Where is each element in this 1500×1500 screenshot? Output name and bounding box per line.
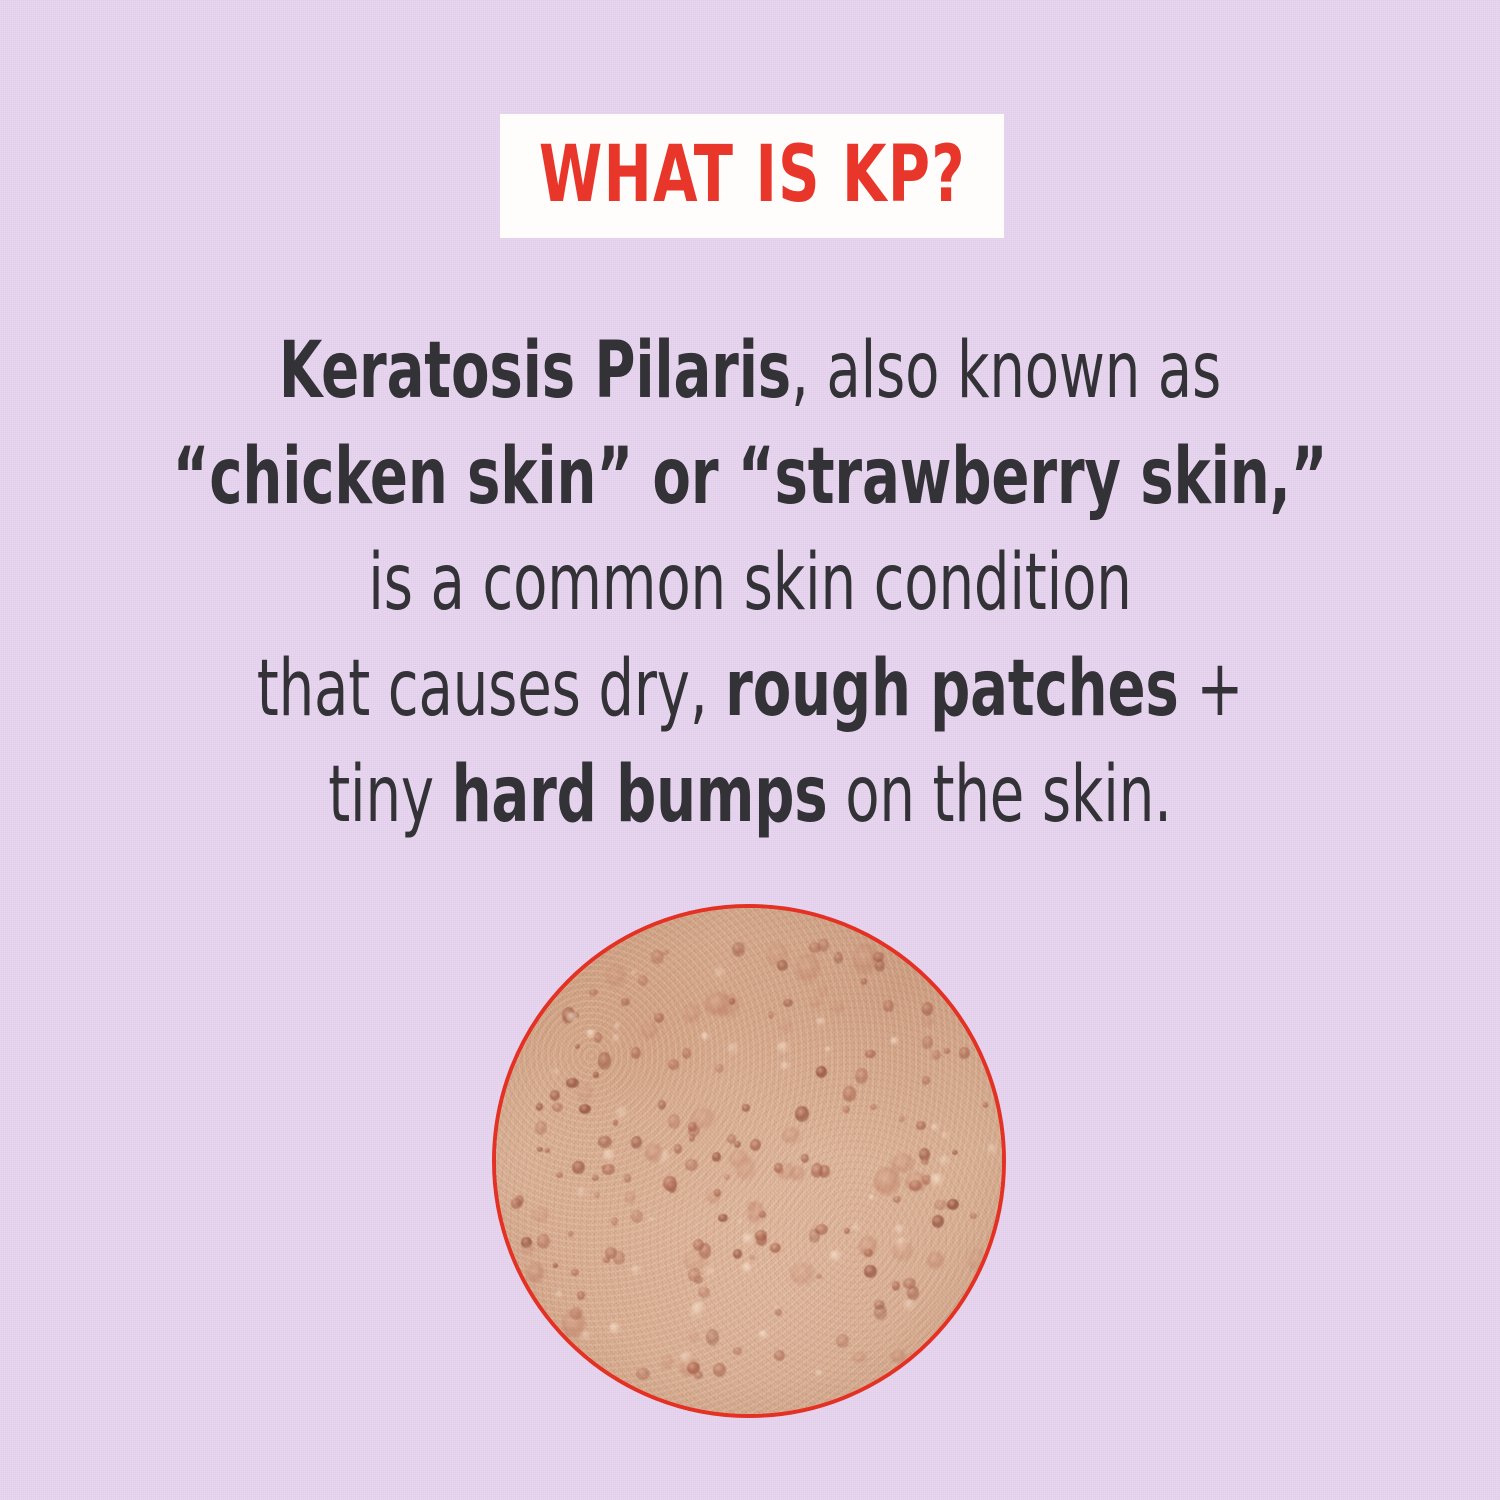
copy-line-2: “chicken skin” or “strawberry skin,” <box>150 424 1350 530</box>
skin-bump <box>795 1106 809 1122</box>
skin-bump <box>555 1290 563 1299</box>
skin-bump <box>916 1121 926 1130</box>
skin-bump <box>816 1066 827 1078</box>
skin-bump <box>927 1252 944 1269</box>
skin-bump <box>733 1347 742 1354</box>
skin-bump <box>598 1052 612 1070</box>
skin-bump <box>521 1243 534 1255</box>
skin-photo <box>492 904 1006 1418</box>
skin-bump <box>891 1350 906 1363</box>
skin-bump <box>698 1287 711 1298</box>
copy-line-5-bold: hard bumps <box>452 750 828 840</box>
skin-bump <box>532 1207 549 1223</box>
skin-bump <box>691 1108 716 1129</box>
skin-bump <box>718 1214 728 1222</box>
skin-bump <box>932 1050 941 1060</box>
skin-bump <box>688 1332 699 1342</box>
copy-line-3: is a common skin condition <box>150 530 1350 636</box>
skin-bump <box>865 1050 875 1058</box>
skin-bump <box>553 1263 558 1268</box>
skin-bump <box>922 1002 933 1016</box>
skin-bump <box>921 1157 928 1165</box>
skin-bump <box>651 950 664 965</box>
copy-line-4-lead: that causes dry, <box>257 644 725 734</box>
copy-line-5-lead: tiny <box>328 750 451 840</box>
page-title: WHAT IS KP? <box>538 136 965 214</box>
skin-bump <box>682 1048 691 1059</box>
skin-bump <box>689 1134 696 1142</box>
skin-bump <box>603 1149 615 1162</box>
skin-bump <box>714 967 726 979</box>
skin-bump <box>668 1059 679 1070</box>
skin-bump <box>616 1106 628 1121</box>
skin-bump <box>724 1174 730 1179</box>
skin-bump <box>893 1196 901 1203</box>
skin-bump <box>571 1269 579 1276</box>
skin-bump <box>577 1291 585 1299</box>
skin-bump <box>861 978 866 985</box>
skin-bump <box>511 1198 522 1209</box>
skin-bump <box>631 1047 641 1059</box>
skin-bump <box>733 1249 742 1259</box>
skin-bump <box>825 1046 831 1053</box>
skin-bump <box>843 1086 855 1102</box>
skin-bump <box>768 1011 774 1019</box>
skin-bump <box>575 1044 580 1049</box>
skin-bump <box>685 1159 698 1171</box>
skin-bump <box>566 1012 578 1022</box>
skin-bump <box>631 1136 642 1149</box>
copy-line-1-rest: , also known as <box>791 326 1221 416</box>
skin-bump <box>780 1020 792 1032</box>
title-banner: WHAT IS KP? <box>500 114 1004 238</box>
skin-bump <box>706 1267 715 1276</box>
skin-bump <box>939 1155 950 1167</box>
skin-bump <box>654 1013 664 1023</box>
skin-bump <box>661 1355 673 1369</box>
skin-bump <box>636 1368 650 1380</box>
skin-bump <box>801 1154 808 1162</box>
skin-bump <box>742 1233 755 1245</box>
skin-bump <box>545 1148 550 1153</box>
skin-bump <box>922 1036 933 1048</box>
skin-bump <box>609 1322 621 1335</box>
skin-bump <box>903 1299 917 1311</box>
skin-bump <box>815 1369 823 1377</box>
skin-bump <box>832 1003 843 1013</box>
copy-line-4-tail: + <box>1179 644 1244 734</box>
skin-bump <box>932 1215 944 1228</box>
skin-bump <box>674 1144 682 1154</box>
skin-bump <box>701 1032 708 1041</box>
skin-bump <box>983 1102 988 1108</box>
skin-bump <box>612 1033 621 1044</box>
skin-bump <box>890 1037 899 1045</box>
skin-bump <box>693 1239 704 1251</box>
skin-bump <box>568 1231 574 1237</box>
skin-bump <box>742 1262 752 1274</box>
skin-bump <box>892 1242 914 1261</box>
skin-bump <box>894 1224 905 1235</box>
skin-bump <box>907 1286 919 1300</box>
copy-line-1-bold: Keratosis Pilaris <box>279 326 791 416</box>
skin-bump <box>952 1150 958 1155</box>
skin-bump <box>930 1173 944 1187</box>
skin-bump <box>734 1141 742 1148</box>
skin-bump <box>684 1004 700 1024</box>
skin-bump <box>869 1194 874 1201</box>
skin-bump <box>782 1127 800 1143</box>
kp-infographic: WHAT IS KP? Keratosis Pilaris, also know… <box>0 0 1500 1500</box>
skin-bump <box>589 989 597 997</box>
skin-bump <box>816 1017 826 1026</box>
skin-bump <box>658 1100 666 1110</box>
skin-bump <box>844 1228 850 1235</box>
skin-bump <box>706 1329 720 1346</box>
skin-bump <box>606 965 626 988</box>
skin-bump <box>712 1152 722 1162</box>
skin-bump <box>883 1000 894 1011</box>
skin-photo-circle <box>492 904 1006 1418</box>
skin-bump <box>934 1200 946 1210</box>
skin-bump <box>790 1263 815 1285</box>
copy-line-2-bold: “chicken skin” or “strawberry skin,” <box>173 432 1328 522</box>
skin-bump <box>783 999 792 1007</box>
skin-bump <box>796 954 819 984</box>
skin-bump <box>947 1199 959 1210</box>
skin-bump <box>922 1076 930 1085</box>
skin-bump <box>809 1229 819 1242</box>
skin-bump <box>855 1068 868 1084</box>
skin-bump <box>577 1084 594 1103</box>
copy-line-5-tail: on the skin. <box>828 750 1172 840</box>
skin-bump <box>576 1187 587 1198</box>
skin-bump <box>603 1257 610 1264</box>
skin-bump <box>552 1103 563 1113</box>
skin-bump <box>631 1210 643 1223</box>
skin-bump <box>594 1192 600 1198</box>
skin-bump <box>602 1164 615 1175</box>
skin-bump <box>899 1116 905 1122</box>
skin-bump <box>631 970 637 975</box>
skin-bump <box>852 1352 867 1364</box>
skin-bump <box>742 1104 749 1111</box>
skin-bump <box>817 985 828 997</box>
skin-bump <box>750 1139 761 1152</box>
skin-bump <box>810 998 820 1008</box>
skin-bump <box>987 1143 998 1156</box>
copy-line-4: that causes dry, rough patches + <box>150 636 1350 742</box>
skin-bump <box>649 1217 654 1221</box>
skin-bump <box>598 1136 612 1148</box>
skin-bump <box>715 1064 725 1073</box>
skin-bump <box>836 1334 848 1348</box>
skin-bump <box>572 1161 585 1175</box>
copy-line-1: Keratosis Pilaris, also known as <box>150 318 1350 424</box>
skin-bump <box>705 992 731 1016</box>
skin-bump <box>735 948 741 953</box>
skin-bump <box>811 1163 823 1178</box>
skin-bump <box>892 1281 900 1291</box>
skin-bump <box>727 1042 739 1055</box>
copy-line-4-bold: rough patches <box>725 644 1179 734</box>
skin-bump <box>668 1114 680 1129</box>
skin-bump <box>550 1090 560 1100</box>
skin-bump <box>829 1250 842 1261</box>
skin-bump <box>611 1217 618 1226</box>
skin-bump <box>614 1022 620 1030</box>
skin-bump <box>621 998 630 1006</box>
skin-bump <box>613 1251 625 1265</box>
skin-bump <box>818 939 828 952</box>
skin-bump <box>923 1017 934 1026</box>
skin-bump <box>750 1255 756 1260</box>
skin-bump <box>613 1120 618 1126</box>
skin-bump <box>552 1068 560 1076</box>
skin-bump <box>747 1201 765 1224</box>
skin-bump <box>931 1123 938 1132</box>
skin-bump <box>537 1234 550 1249</box>
skin-bump <box>556 1172 562 1177</box>
skin-bump <box>843 1106 849 1113</box>
skin-bump <box>537 1147 543 1152</box>
skin-bump <box>968 1249 986 1272</box>
skin-bump <box>535 1121 547 1135</box>
skin-bump <box>714 1189 721 1197</box>
skin-bump <box>580 1330 592 1342</box>
skin-bump <box>773 1305 778 1310</box>
skin-bump <box>592 1175 599 1181</box>
skin-bump <box>624 1174 632 1183</box>
skin-bump <box>680 1351 692 1365</box>
skin-bump <box>959 1047 970 1058</box>
skin-bump <box>638 975 648 986</box>
skin-bump <box>775 1309 782 1316</box>
skin-bump <box>527 1263 544 1283</box>
body-copy: Keratosis Pilaris, also known as “chicke… <box>0 318 1500 848</box>
skin-bump <box>770 1243 781 1253</box>
skin-bump <box>737 1219 743 1224</box>
skin-bump <box>777 960 788 971</box>
skin-bump <box>864 1265 876 1278</box>
skin-bump <box>944 1048 950 1053</box>
skin-bump <box>625 1192 636 1205</box>
skin-bump <box>641 1023 659 1039</box>
skin-bump <box>774 1350 785 1361</box>
skin-bump <box>694 1371 704 1379</box>
skin-bump <box>593 1072 599 1078</box>
skin-bump <box>667 1181 678 1193</box>
skin-bump <box>713 1363 726 1377</box>
skin-bump <box>566 1078 578 1088</box>
skin-bumps-layer <box>496 908 1002 1414</box>
skin-bump <box>755 1230 767 1241</box>
copy-line-3-text: is a common skin condition <box>368 538 1131 628</box>
skin-bump <box>579 1104 591 1114</box>
skin-bump <box>663 950 669 955</box>
skin-bump <box>874 1167 900 1196</box>
skin-bump <box>630 1265 642 1275</box>
skin-bump <box>690 1304 703 1318</box>
copy-line-5: tiny hard bumps on the skin. <box>150 742 1350 848</box>
skin-bump <box>941 1131 949 1141</box>
skin-bump <box>758 1330 769 1340</box>
skin-bump <box>834 952 844 964</box>
skin-bump <box>852 1223 860 1232</box>
skin-bump <box>816 1274 822 1279</box>
skin-bump <box>780 1061 791 1071</box>
skin-bump <box>536 1103 543 1111</box>
skin-bump <box>864 1249 872 1256</box>
skin-bump <box>970 1213 977 1219</box>
skin-bump <box>777 1041 789 1054</box>
skin-bump <box>870 1104 876 1110</box>
